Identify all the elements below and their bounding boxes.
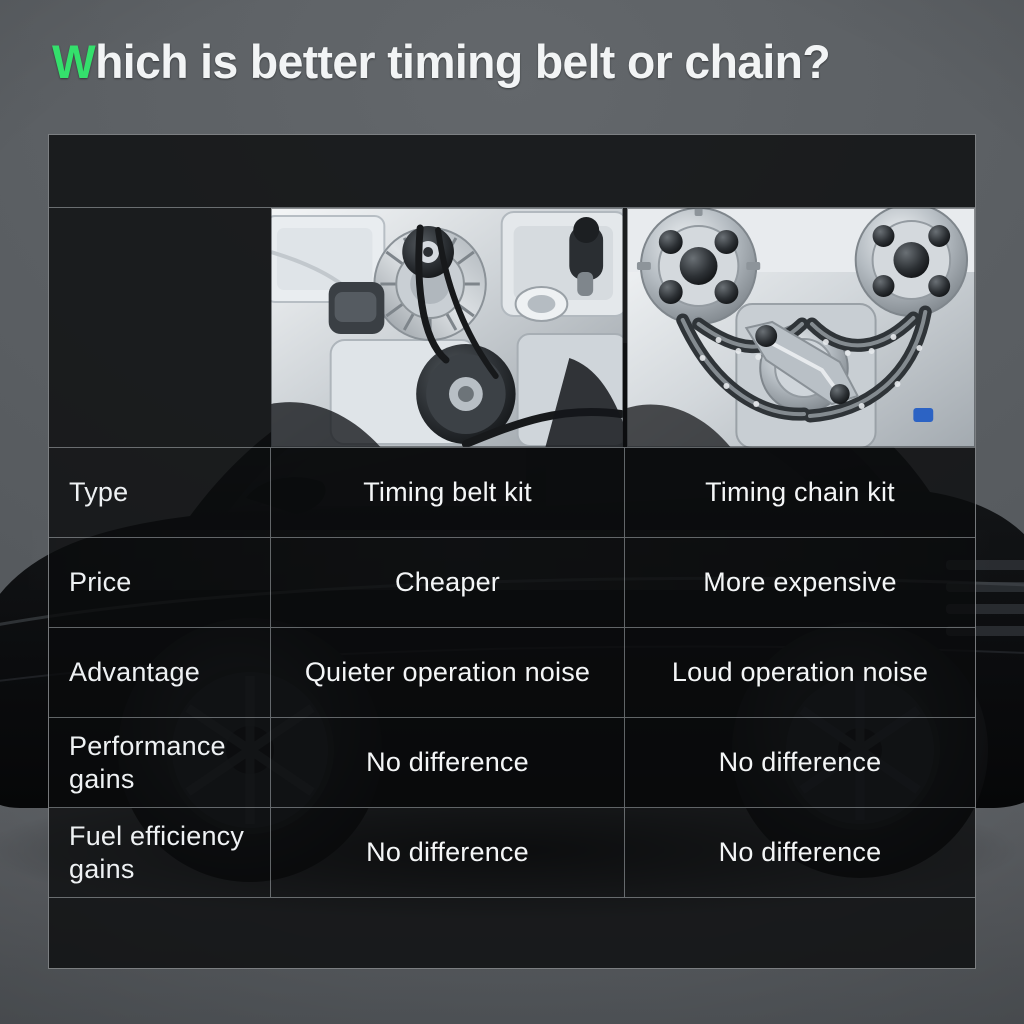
row-chain-value: Timing chain kit [705,476,895,509]
row-label-cell: Price [49,538,271,627]
row-chain-value: No difference [719,836,882,869]
row-belt-value: No difference [366,836,529,869]
media-row-label-cell [49,208,271,447]
header-cell-chain [625,135,975,207]
row-chain-cell: Loud operation noise [625,628,975,717]
row-chain-cell: No difference [625,718,975,807]
row-label-cell: Fuel efficiency gains [49,808,271,897]
row-belt-cell: Quieter operation noise [271,628,625,717]
media-cell-timing-chain [625,208,975,447]
footer-cell-belt [271,898,625,976]
row-chain-cell: No difference [625,808,975,897]
comparison-table: Type Timing belt kit Timing chain kit Pr… [48,134,976,969]
footer-cell-chain [625,898,975,976]
page-title-rest: hich is better timing belt or chain? [95,35,830,88]
row-label: Performance gains [69,730,270,796]
table-row: Performance gains No difference No diffe… [49,718,975,808]
row-belt-cell: Timing belt kit [271,448,625,537]
footer-cell-label [49,898,271,976]
row-label-cell: Advantage [49,628,271,717]
row-label-cell: Type [49,448,271,537]
table-header-row [49,135,975,208]
table-row: Fuel efficiency gains No difference No d… [49,808,975,898]
row-label: Advantage [69,656,200,689]
row-belt-value: No difference [366,746,529,779]
table-row: Price Cheaper More expensive [49,538,975,628]
row-belt-cell: Cheaper [271,538,625,627]
page-title-accent-letter: W [52,35,95,88]
row-belt-cell: No difference [271,718,625,807]
header-cell-label [49,135,271,207]
table-media-row [49,208,975,448]
table-row: Advantage Quieter operation noise Loud o… [49,628,975,718]
header-cell-belt [271,135,625,207]
row-chain-value: More expensive [703,566,896,599]
row-belt-value: Timing belt kit [363,476,532,509]
page-title: Which is better timing belt or chain? [52,34,830,90]
row-belt-cell: No difference [271,808,625,897]
row-belt-value: Cheaper [395,566,500,599]
timing-belt-engine-image [271,208,623,447]
row-label: Price [69,566,132,599]
row-chain-cell: Timing chain kit [625,448,975,537]
infographic-canvas: Which is better timing belt or chain? [0,0,1024,1024]
row-label: Fuel efficiency gains [69,820,270,886]
row-chain-value: Loud operation noise [672,656,928,689]
row-label: Type [69,476,128,509]
row-label-cell: Performance gains [49,718,271,807]
table-footer-row [49,898,975,976]
row-chain-value: No difference [719,746,882,779]
row-belt-value: Quieter operation noise [305,656,590,689]
timing-chain-engine-image [627,208,975,447]
row-chain-cell: More expensive [625,538,975,627]
media-cell-timing-belt [271,208,625,447]
table-row: Type Timing belt kit Timing chain kit [49,448,975,538]
